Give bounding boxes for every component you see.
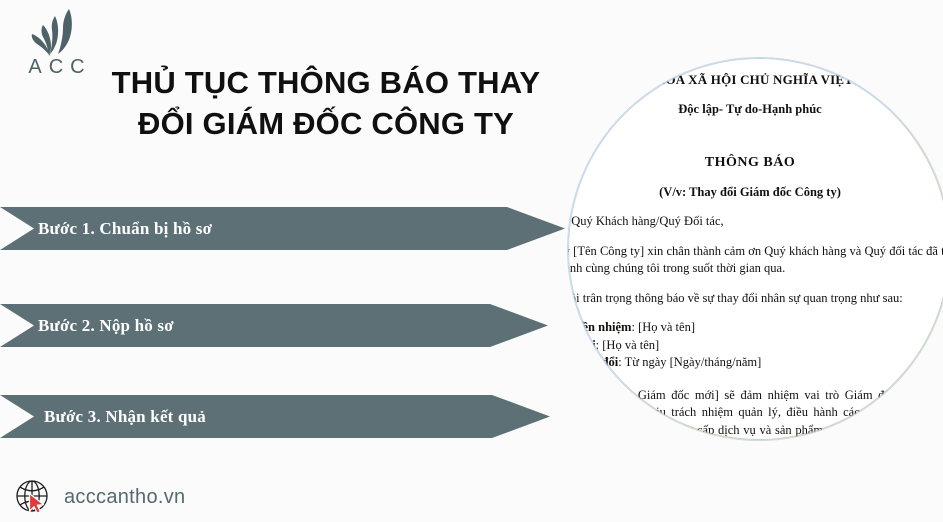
step-banner-3: Bước 3. Nhận kết quả xyxy=(0,395,550,438)
page-title-line-2: ĐỔI GIÁM ĐỐC CÔNG TY xyxy=(106,103,546,144)
site-url-text: acccantho.vn xyxy=(64,486,185,509)
document-change-item-1-value: : [Họ và tên] xyxy=(631,320,695,334)
document-paragraph-1: Công ty [Tên Công ty] xin chân thành cảm… xyxy=(568,243,943,278)
document-salutation: Kính gửi: Quý Khách hàng/Quý Đối tác, xyxy=(568,213,943,231)
document-heading: THÔNG BÁO xyxy=(568,154,943,172)
globe-cursor-icon xyxy=(14,478,52,516)
step-banner-1-label: Bước 1. Chuẩn bị hồ sơ xyxy=(38,219,212,239)
step-banner-2-label: Bước 2. Nộp hồ sơ xyxy=(38,316,174,336)
document-page: CỘNG HÒA XÃ HỘI CHỦ NGHĨA VIỆT NAM Độc l… xyxy=(568,58,943,440)
step-banner-3-label: Bước 3. Nhận kết quả xyxy=(44,407,206,427)
step-banner-2: Bước 2. Nộp hồ sơ xyxy=(0,304,548,347)
document-motto: Độc lập- Tự do-Hạnh phúc xyxy=(568,101,943,119)
document-change-item-2-value: : [Họ và tên] xyxy=(596,338,660,352)
page-title-line-1: THỦ TỤC THÔNG BÁO THAY xyxy=(106,62,546,103)
document-change-item-2: Giám đốc mới: [Họ và tên] xyxy=(568,337,943,355)
document-national-header: CỘNG HÒA XÃ HỘI CHỦ NGHĨA VIỆT NAM xyxy=(568,71,943,89)
brand-name: ACC xyxy=(24,56,96,79)
page-title: THỦ TỤC THÔNG BÁO THAY ĐỔI GIÁM ĐỐC CÔNG… xyxy=(106,62,546,144)
document-subject: (V/v: Thay đổi Giám đốc Công ty) xyxy=(568,184,943,202)
document-change-item-1-label: Giám đốc tiền nhiệm xyxy=(568,320,631,334)
document-change-item-3: Thời gian thay đổi: Từ ngày [Ngày/tháng/… xyxy=(568,354,943,372)
document-change-item-2-label: Giám đốc mới xyxy=(568,338,596,352)
leaf-flame-logo-icon xyxy=(26,8,88,58)
document-paragraph-2: Chúng tôi trân trọng thông báo về sự tha… xyxy=(568,290,943,308)
document-preview-circle: CỘNG HÒA XÃ HỘI CHỦ NGHĨA VIỆT NAM Độc l… xyxy=(568,58,943,440)
document-change-item-3-label: Thời gian thay đổi xyxy=(568,355,618,369)
brand-logo: ACC xyxy=(18,8,102,86)
footer: acccantho.vn xyxy=(14,477,185,517)
document-paragraph-3: Ông/Bà [Họ và tên Giám đốc mới] sẽ đảm n… xyxy=(568,387,943,441)
document-change-item-3-value: : Từ ngày [Ngày/tháng/năm] xyxy=(618,355,761,369)
step-banner-1: Bước 1. Chuẩn bị hồ sơ xyxy=(0,207,565,250)
document-change-item-1: Giám đốc tiền nhiệm: [Họ và tên] xyxy=(568,319,943,337)
